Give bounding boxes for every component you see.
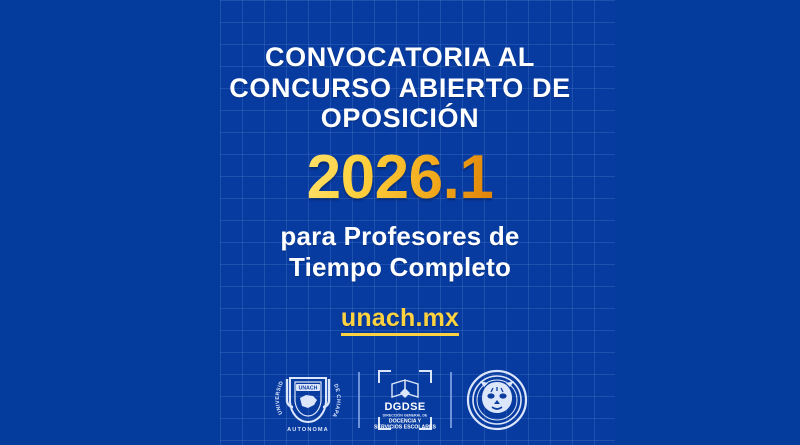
headline-line-2: CONCURSO ABIERTO DE (229, 73, 570, 104)
website-link[interactable]: unach.mx (341, 305, 459, 337)
year-number: 2026.1 (307, 147, 494, 209)
subheadline-line-1: para Profesores de (280, 221, 519, 252)
subheadline: para Profesores de Tiempo Completo (280, 221, 519, 283)
headline: CONVOCATORIA AL CONCURSO ABIERTO DE OPOS… (229, 42, 570, 134)
poster-canvas: CONVOCATORIA AL CONCURSO ABIERTO DE OPOS… (0, 0, 800, 445)
poster-content: CONVOCATORIA AL CONCURSO ABIERTO DE OPOS… (0, 0, 800, 445)
headline-line-3: OPOSICIÓN (229, 103, 570, 134)
headline-line-1: CONVOCATORIA AL (229, 42, 570, 73)
subheadline-line-2: Tiempo Completo (280, 252, 519, 283)
